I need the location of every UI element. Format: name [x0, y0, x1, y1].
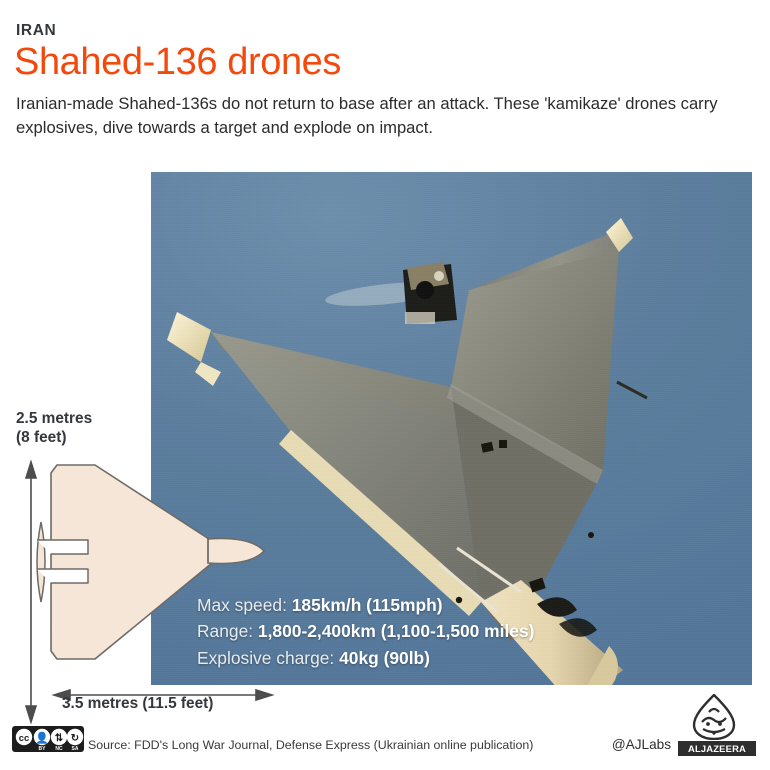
- aljazeera-teardrop-icon: [686, 694, 742, 740]
- creative-commons-badge[interactable]: cc 👤 ⇅ ↻ BYNCSA: [12, 726, 84, 757]
- drone-wingtip-left-lower: [195, 362, 221, 386]
- svg-text:↻: ↻: [71, 733, 79, 744]
- kicker-iran: IRAN: [16, 22, 56, 40]
- svg-text:👤: 👤: [35, 732, 49, 745]
- spec-max-speed-value: 185km/h (115mph): [292, 595, 443, 615]
- svg-text:BY: BY: [39, 746, 47, 752]
- aljazeera-wordmark: ALJAZEERA: [678, 741, 756, 756]
- aljazeera-branding: @AJLabs ALJAZEERA: [612, 694, 756, 756]
- svg-text:cc: cc: [19, 733, 30, 744]
- height-dimension-label: 2.5 metres (8 feet): [16, 409, 92, 448]
- width-dimension-label: 3.5 metres (11.5 feet): [62, 694, 213, 713]
- cc-by-nc-sa-icon: cc 👤 ⇅ ↻ BYNCSA: [12, 726, 84, 752]
- page-title: Shahed-136 drones: [14, 42, 341, 83]
- svg-text:NC: NC: [55, 746, 63, 752]
- dimension-diagram: 2.5 metres (8 feet) 3.5 metres (11.5 fee…: [0, 398, 300, 728]
- svg-text:SA: SA: [72, 746, 79, 752]
- silhouette-nose-cone: [208, 539, 264, 564]
- ajlabs-handle: @AJLabs: [612, 737, 671, 756]
- aljazeera-logo: ALJAZEERA: [678, 694, 756, 756]
- standfirst-text: Iranian-made Shahed-136s do not return t…: [16, 92, 756, 139]
- silhouette-tail-fin: [37, 522, 45, 602]
- drone-probe: [617, 382, 647, 398]
- svg-text:⇅: ⇅: [55, 733, 64, 744]
- drone-engine: [324, 262, 457, 324]
- height-dimension-arrow: [26, 462, 36, 722]
- drone-wingtip-left: [167, 312, 211, 362]
- spec-explosive-charge-value: 40kg (90lb): [339, 648, 430, 668]
- silhouette-body: [51, 465, 212, 659]
- source-credit: Source: FDD's Long War Journal, Defense …: [88, 738, 533, 752]
